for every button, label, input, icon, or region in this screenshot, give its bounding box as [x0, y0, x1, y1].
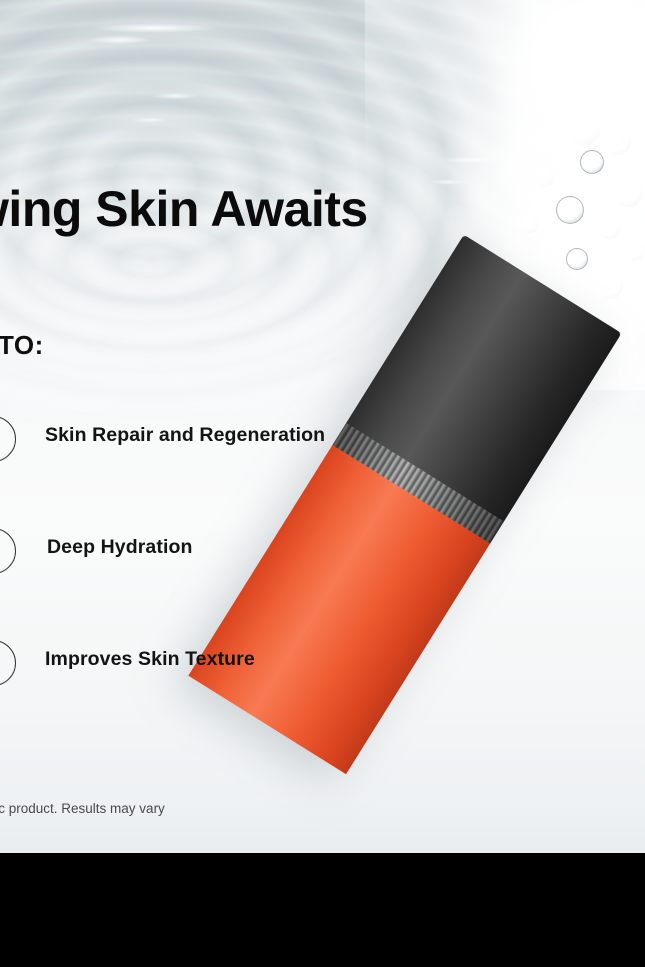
list-item-label: Skin Repair and Regeneration [45, 424, 325, 447]
bubble-icon [596, 214, 622, 240]
bubble-icon [622, 238, 645, 262]
circle-bullet-icon [0, 416, 16, 462]
bubble-icon [566, 110, 602, 146]
disclaimer-text: smetic product. Results may vary [0, 801, 165, 816]
list-item-label: Deep Hydration [47, 536, 193, 559]
footer-bar: Anti-Aging Skin Treatments [0, 853, 645, 967]
skincare-poster: owing Skin Awaits TO: Skin Repair and Re… [0, 0, 645, 967]
bubble-icon [556, 196, 584, 224]
list-item: Deep Hydration [0, 512, 460, 624]
page-title: owing Skin Awaits [0, 182, 540, 237]
bubble-icon [596, 272, 624, 300]
benefits-list: Skin Repair and Regeneration Deep Hydrat… [0, 400, 460, 736]
list-item: Improves Skin Texture [0, 624, 460, 736]
bubble-icon [566, 248, 588, 270]
circle-bullet-icon [0, 528, 16, 574]
bubble-icon [612, 176, 644, 208]
bubble-icon [604, 128, 632, 156]
list-item-label: Improves Skin Texture [45, 648, 255, 671]
circle-bullet-icon [0, 640, 16, 686]
bubble-icon [580, 150, 604, 174]
list-item: Skin Repair and Regeneration [0, 400, 460, 512]
subheading: TO: [0, 330, 44, 361]
